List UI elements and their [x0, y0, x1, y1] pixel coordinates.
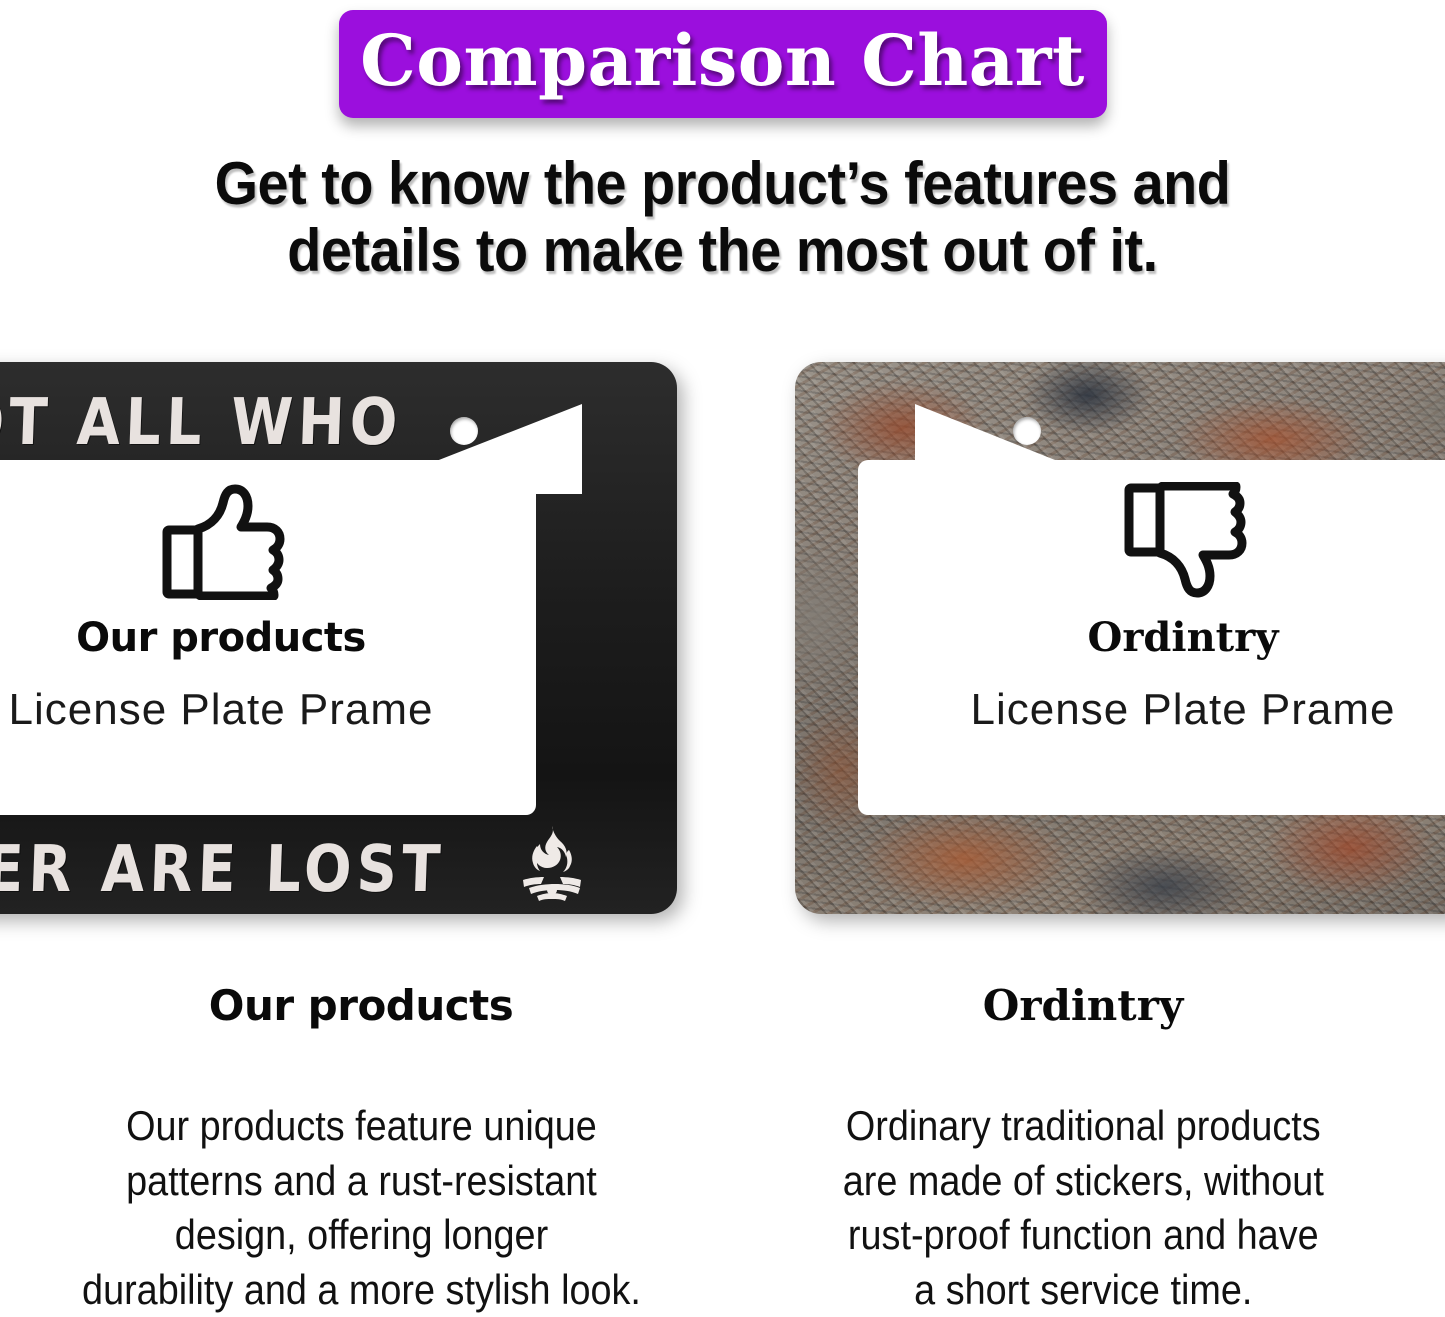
subtitle-line-1: Get to know the product’s features and [51, 150, 1395, 217]
ordinary-description: Ordinary traditional products are made o… [842, 1099, 1323, 1317]
ordinary-heading: Ordintry [983, 985, 1184, 1027]
comparison-chart-banner: Comparison Chart [339, 10, 1107, 118]
description-line-3: design, offering longer [82, 1208, 641, 1263]
product-comparison-images: OT ALL WHO DER ARE LOST [0, 362, 1445, 914]
header-banner-wrap: Comparison Chart [0, 10, 1445, 122]
description-line-1: Ordinary traditional products [842, 1099, 1323, 1154]
page-subtitle: Get to know the product’s features and d… [51, 150, 1395, 284]
plate-frame-body-black: OT ALL WHO DER ARE LOST [0, 362, 677, 914]
subtitle-line-2: details to make the most out of it. [51, 217, 1395, 284]
ordinary-license-plate-frame: Ordintry License Plate Prame [795, 362, 1445, 914]
frame-bottom-engraving: DER ARE LOST [0, 832, 588, 907]
page-title: Comparison Chart [360, 26, 1085, 102]
ordinary-description-column: Ordintry Ordinary traditional products a… [722, 985, 1444, 1314]
description-line-2: patterns and a rust-resistant [82, 1154, 641, 1209]
description-line-3: rust-proof function and have [842, 1208, 1323, 1263]
mounting-hole [450, 417, 478, 445]
campfire-icon [515, 824, 589, 906]
our-product-heading: Our products [209, 985, 514, 1027]
description-line-1: Our products feature unique [82, 1099, 641, 1154]
comparison-descriptions: Our products Our products feature unique… [0, 985, 1445, 1314]
plate-inner-white-area [858, 460, 1445, 815]
mounting-hole [1013, 417, 1041, 445]
plate-frame-body-rusted [795, 362, 1445, 914]
description-line-2: are made of stickers, without [842, 1154, 1323, 1209]
description-line-4: durability and a more stylish look. [82, 1263, 641, 1317]
description-line-4: a short service time. [842, 1263, 1323, 1317]
our-product-description: Our products feature unique patterns and… [82, 1099, 641, 1317]
our-product-description-column: Our products Our products feature unique… [0, 985, 722, 1314]
our-product-license-plate-frame: OT ALL WHO DER ARE LOST [0, 362, 677, 914]
plate-inner-white-area [0, 460, 536, 815]
